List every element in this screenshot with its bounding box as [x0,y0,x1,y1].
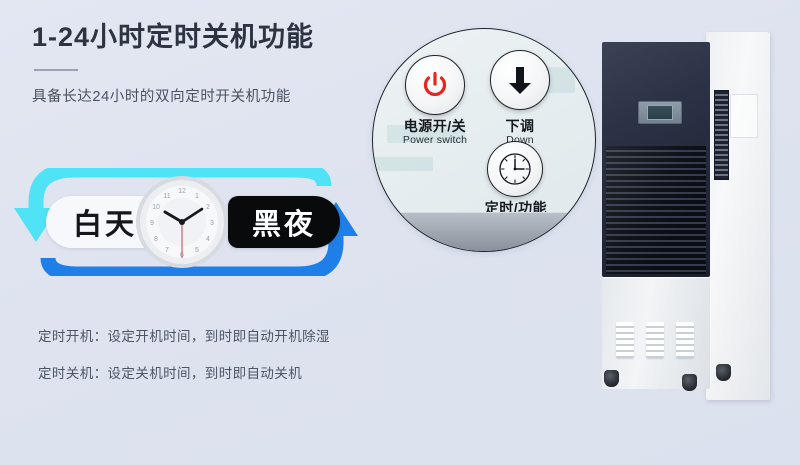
control-panel-closeup: 电源开/关 Power switch 下调 Down [372,28,596,252]
timer-note-power-on: 定时开机：设定开机时间，到时即自动开机除湿 [38,330,398,344]
power-icon [420,70,450,100]
night-pill: 黑夜 [228,196,340,248]
svg-text:2: 2 [206,204,210,211]
product-side-panel [706,32,770,400]
front-air-grille [606,146,706,274]
clock-icon [496,150,534,188]
power-switch-caption: 电源开/关 Power switch [385,119,485,147]
side-vent-grille [714,90,729,180]
side-spec-label [730,94,758,138]
display-lcd-screen [647,105,673,120]
panel-surface-marking [373,157,433,171]
day-night-cycle-banner: 白天 黑夜 12 1 2 3 4 5 6 7 8 9 10 [6,168,366,276]
product-control-display [638,101,682,124]
svg-text:11: 11 [163,193,170,200]
svg-text:9: 9 [150,220,154,227]
daytime-label: 白天 [73,201,137,243]
panel-gloss-highlight [606,146,706,274]
power-switch-button[interactable] [405,55,465,115]
base-vent [616,322,634,358]
power-switch-label-en: Power switch [385,135,485,147]
caster-wheel [604,370,619,387]
night-label: 黑夜 [252,201,316,243]
product-front-panel [602,42,710,400]
svg-text:4: 4 [206,236,210,243]
svg-text:5: 5 [195,247,199,254]
base-vent [646,322,664,358]
svg-text:3: 3 [210,220,214,227]
svg-text:12: 12 [178,188,186,195]
industrial-dehumidifier-image [594,26,782,424]
timing-function-button[interactable] [487,141,543,197]
caster-wheel [682,374,697,391]
page-title: 1-24小时定时关机功能 [32,22,392,53]
timer-notes-list: 定时开机：设定开机时间，到时即自动开机除湿 定时关机：设定关机时间，到时即自动关… [38,330,398,403]
arrow-down-icon [505,64,535,96]
svg-text:10: 10 [152,204,160,211]
analog-clock-icon: 12 1 2 3 4 5 6 7 8 9 10 11 [134,174,230,270]
product-feature-poster: 1-24小时定时关机功能 具备长达24小时的双向定时开关机功能 白天 黑夜 [0,0,800,465]
down-button-label-cn: 下调 [479,119,561,134]
timer-note-power-off: 定时关机：设定关机时间，到时即自动关机 [38,367,398,381]
svg-text:1: 1 [195,193,199,200]
base-vent [676,322,694,358]
front-upper-panel [602,42,710,277]
svg-text:7: 7 [165,247,169,254]
down-button[interactable] [490,50,550,110]
headline-block: 1-24小时定时关机功能 具备长达24小时的双向定时开关机功能 [32,22,392,106]
title-divider [34,69,78,71]
panel-floor-shadow [373,212,595,251]
power-switch-label-cn: 电源开/关 [385,119,485,134]
page-subtitle: 具备长达24小时的双向定时开关机功能 [32,85,392,106]
caster-wheel [716,364,731,381]
svg-text:8: 8 [154,236,158,243]
